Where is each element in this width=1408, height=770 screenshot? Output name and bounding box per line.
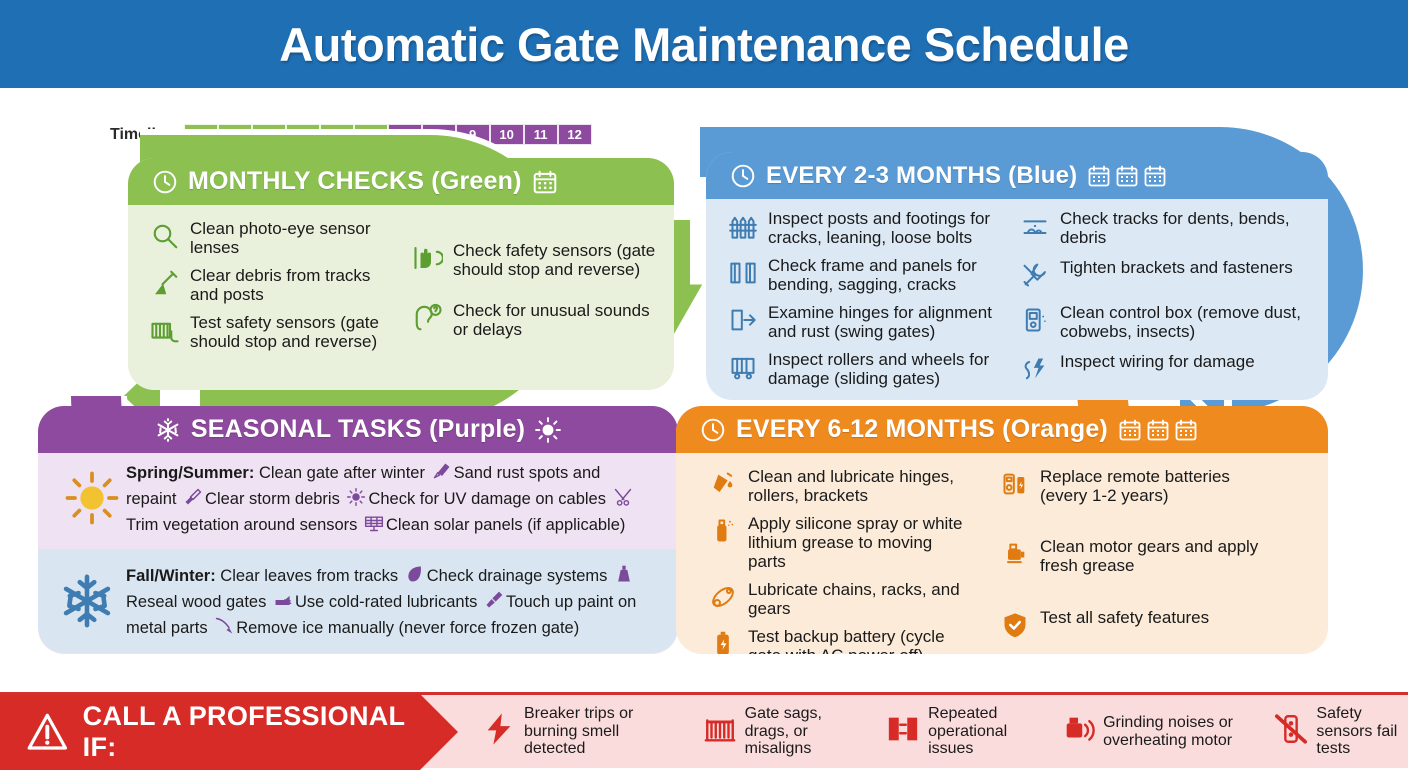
list-item: Check for unusual sounds or delays [411,301,658,352]
season-task: Clear storm debris [205,490,340,508]
battery-icon [706,627,740,654]
list-item: Inspect rollers and wheels for damage (s… [726,350,1010,388]
list-item: Inspect wiring for damage [1018,352,1255,388]
ear-question-icon [411,301,445,335]
list-item: Clean and lubricate hinges, rollers, bra… [706,467,974,505]
panel-seasonal-tasks: SEASONAL TASKS (Purple) Spring/Summer: C… [38,406,678,654]
panel-blue-title: EVERY 2-3 MONTHS (Blue) [766,162,1077,190]
season-label: Fall/Winter: [126,567,216,585]
fall-winter-row: Fall/Winter: Clear leaves from tracks Ch… [38,549,678,653]
call-professional-flag: CALL A PROFESSIONAL IF: [0,694,420,770]
list-item: Check frame and panels for bending, sagg… [726,256,1010,294]
list-item-label: Clean motor gears and apply fresh grease [1040,537,1266,575]
calendar-icon [1143,164,1167,188]
season-task: Check for UV damage on cables [368,490,606,508]
list-item: Check tracks for dents, bends, debris [1018,209,1302,249]
list-item: Lubricate chains, racks, and gears [706,580,974,618]
wrench-screwdriver-icon [1018,258,1052,292]
season-intro: Clear leaves from tracks [220,567,398,585]
professional-item-label: Grinding noises or overheating motor [1103,714,1254,750]
calendar-icon [1115,164,1139,188]
list-item: Clean photo-eye sensor lenses [148,219,395,257]
fence-posts-icon [726,209,760,243]
list-item-label: Clear debris from tracks and posts [190,266,395,304]
magnifier-icon [148,219,182,253]
panel-green-header: MONTHLY CHECKS (Green) [128,158,674,205]
chain-icon [706,580,740,614]
panel-blue-header: EVERY 2-3 MONTHS (Blue) [706,152,1328,199]
hand-signal-icon [411,241,445,275]
blue-right-items: Check tracks for dents, bends, debrisTig… [1018,209,1302,397]
list-item: Inspect posts and footings for cracks, l… [726,209,1010,247]
panel-orange-title: EVERY 6-12 MONTHS (Orange) [736,415,1108,444]
shears-icon [613,487,633,513]
list-item: Clear debris from tracks and posts [148,266,395,304]
list-item: Clean control box (remove dust, cobwebs,… [1018,303,1302,343]
season-label: Spring/Summer: [126,464,254,482]
remote-battery-icon [998,467,1032,501]
motor-noise-icon [1061,712,1095,751]
motor-gear-icon [998,537,1032,571]
green-left-items: Clean photo-eye sensor lensesClear debri… [148,219,395,360]
spray-can-icon [706,514,740,548]
snowflake-icon [58,572,116,635]
list-item-label: Lubricate chains, racks, and gears [748,580,974,618]
clock-icon [152,169,178,195]
sun-small-icon [346,487,366,513]
professional-item-label: Safety sensors fail tests [1316,705,1408,759]
panel-monthly-checks: MONTHLY CHECKS (Green) Clean photo-eye s… [128,158,674,390]
list-item: Examine hinges for alignment and rust (s… [726,303,1010,341]
list-item: Apply silicone spray or white lithium gr… [706,514,974,571]
calendar-icon [1174,418,1198,442]
gate-hand-icon [148,313,182,347]
call-professional-items: Breaker trips or burning smell detectedG… [420,705,1408,759]
season-task: Clean solar panels (if applicable) [386,516,625,534]
professional-item: Repeated operational issues [886,705,1041,759]
sealant-icon [614,564,634,590]
list-item-label: Test safety sensors (gate should stop an… [190,313,395,351]
page-title-bar: Automatic Gate Maintenance Schedule [0,0,1408,88]
panel-orange-header: EVERY 6-12 MONTHS (Orange) [676,406,1328,453]
spring-summer-row: Spring/Summer: Clean gate after winter S… [58,453,662,543]
list-item: Check fafety sensors (gate should stop a… [411,241,658,292]
professional-item-label: Breaker trips or burning smell detected [524,705,683,759]
professional-item-label: Gate sags, drags, or misaligns [745,705,866,759]
professional-item-label: Repeated operational issues [928,705,1041,759]
list-item-label: Inspect wiring for damage [1060,352,1255,371]
calendar-icon [532,169,558,195]
calendar-icon-group [1087,164,1167,188]
warning-triangle-icon [26,709,69,755]
list-item: Test safety sensors (gate should stop an… [148,313,395,351]
spring-summer-text: Spring/Summer: Clean gate after winter S… [126,461,650,539]
sun-icon [64,470,120,531]
list-item-label: Check frame and panels for bending, sagg… [768,256,1010,294]
professional-item: Gate sags, drags, or misaligns [703,705,866,759]
list-item-label: Inspect posts and footings for cracks, l… [768,209,1010,247]
sagging-gate-icon [703,712,737,751]
oil-can-icon [273,590,293,616]
leaf-icon [405,564,425,590]
list-item-label: Replace remote batteries (every 1-2 year… [1040,467,1266,505]
solar-panel-icon [364,513,384,539]
list-item: Test backup battery (cycle gate with AC … [706,627,974,654]
calendar-icon [1146,418,1170,442]
panel-purple-title: SEASONAL TASKS (Purple) [191,415,525,444]
clock-icon [700,417,726,443]
blue-left-items: Inspect posts and footings for cracks, l… [726,209,1010,397]
shovel-icon [148,266,182,300]
list-item-label: Clean control box (remove dust, cobwebs,… [1060,303,1302,341]
track-icon [1018,209,1052,243]
repeat-gate-icon [886,712,920,751]
shield-check-icon [998,608,1032,642]
list-item-label: Check for unusual sounds or delays [453,301,658,339]
list-item-label: Test all safety features [1040,608,1209,627]
list-item-label: Check fafety sensors (gate should stop a… [453,241,658,279]
list-item: Clean motor gears and apply fresh grease [998,537,1266,598]
panel-purple-header: SEASONAL TASKS (Purple) [38,406,678,453]
green-right-items: Check fafety sensors (gate should stop a… [411,219,658,360]
list-item-label: Check tracks for dents, bends, debris [1060,209,1302,247]
season-task: Trim vegetation around sensors [126,516,357,534]
panel-green-title: MONTHLY CHECKS (Green) [188,167,522,196]
calendar-icon [1118,418,1142,442]
season-task: Reseal wood gates [126,593,266,611]
sandpaper-icon [432,461,452,487]
list-item: Replace remote batteries (every 1-2 year… [998,467,1266,528]
orange-right-items: Replace remote batteries (every 1-2 year… [998,467,1266,654]
orange-left-items: Clean and lubricate hinges, rollers, bra… [706,467,974,654]
list-item-label: Apply silicone spray or white lithium gr… [748,514,974,571]
clock-icon [730,163,756,189]
hinge-swing-icon [726,303,760,337]
calendar-icon-group [1118,418,1198,442]
ice-pick-icon [214,616,234,642]
list-item: Tighten brackets and fasteners [1018,258,1293,294]
sun-icon [535,417,561,443]
fall-winter-text: Fall/Winter: Clear leaves from tracks Ch… [126,564,666,642]
control-box-icon [1018,303,1052,337]
list-item-label: Clean photo-eye sensor lenses [190,219,395,257]
lightning-bolt-icon [482,712,516,751]
sensor-fail-icon [1274,712,1308,751]
oil-bottle-icon [706,467,740,501]
professional-item: Breaker trips or burning smell detected [482,705,683,759]
season-task: Use cold-rated lubricants [295,593,478,611]
call-professional-bar: CALL A PROFESSIONAL IF: Breaker trips or… [0,692,1408,768]
season-intro: Clean gate after winter [259,464,425,482]
gate-panels-icon [726,256,760,290]
list-item-label: Clean and lubricate hinges, rollers, bra… [748,467,974,505]
season-task: Check drainage systems [427,567,608,585]
list-item-label: Examine hinges for alignment and rust (s… [768,303,1010,341]
professional-item: Grinding noises or overheating motor [1061,712,1254,751]
page-title: Automatic Gate Maintenance Schedule [279,17,1129,72]
paintbrush-icon [484,590,504,616]
wiring-bolt-icon [1018,352,1052,386]
broom-icon [183,487,203,513]
call-professional-label: CALL A PROFESSIONAL IF: [83,701,420,763]
list-item-label: Tighten brackets and fasteners [1060,258,1293,277]
calendar-icon [1087,164,1111,188]
list-item-label: Test backup battery (cycle gate with AC … [748,627,974,654]
season-task: Remove ice manually (never force frozen … [236,619,579,637]
roller-gate-icon [726,350,760,384]
list-item: Test all safety features [998,608,1209,654]
panel-every-6-12-months: EVERY 6-12 MONTHS (Orange) Clean and lub… [676,406,1328,654]
list-item-label: Inspect rollers and wheels for damage (s… [768,350,1010,388]
snowflake-icon [155,417,181,443]
panel-every-2-3-months: EVERY 2-3 MONTHS (Blue) Inspect posts an… [706,152,1328,400]
professional-item: Safety sensors fail tests [1274,705,1408,759]
